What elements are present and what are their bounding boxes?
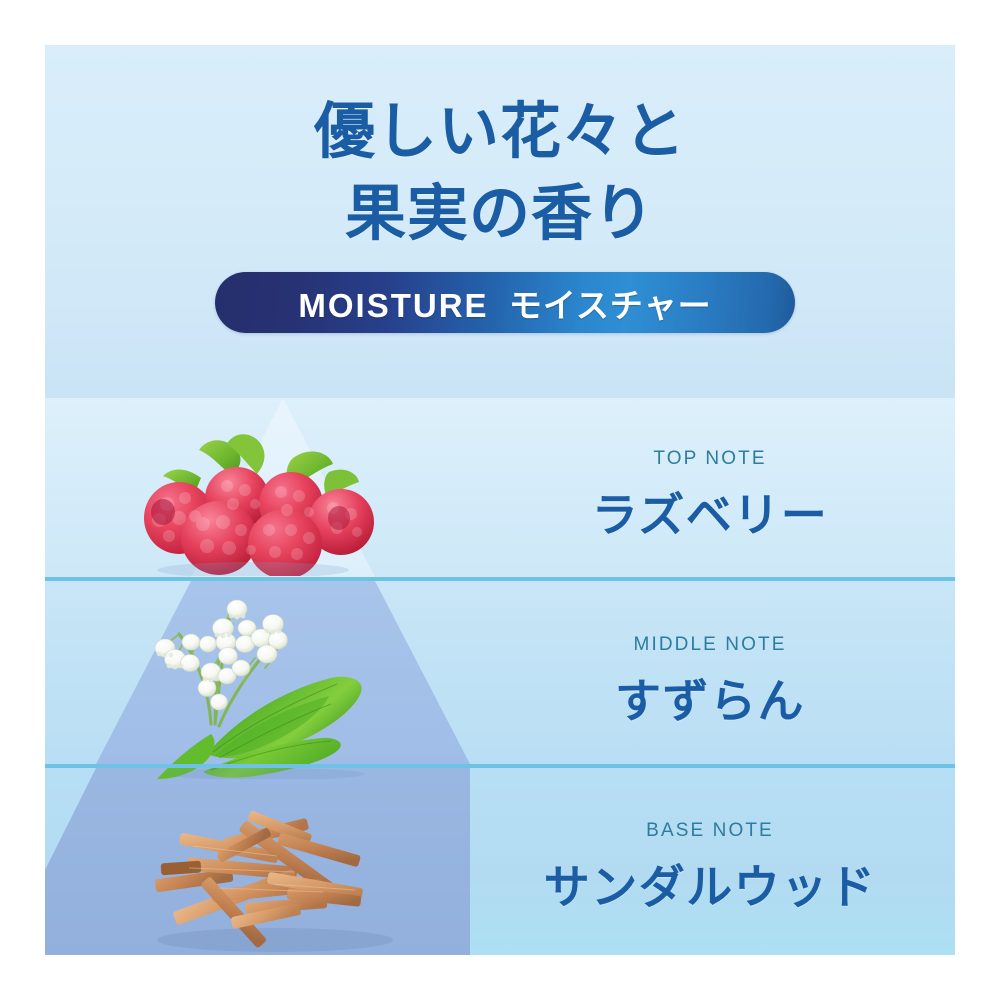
band-divider-2	[45, 764, 955, 768]
content-panel: 優しい花々と 果実の香り MOISTURE モイスチャー	[45, 45, 955, 955]
note-text-middle: MIDDLE NOTE すずらん	[475, 634, 945, 731]
sandalwood-icon	[127, 788, 417, 953]
note-text-top: TOP NOTE ラズベリー	[475, 448, 945, 545]
sandalwood-sticks	[155, 810, 364, 949]
band-divider-1	[45, 577, 955, 581]
note-name-base: サンダルウッド	[475, 851, 945, 917]
note-text-base: BASE NOTE サンダルウッド	[475, 820, 945, 917]
headline-line-1: 優しい花々と	[45, 91, 955, 173]
badge-label-jp: モイスチャー	[489, 287, 712, 324]
note-kicker-top: TOP NOTE	[475, 448, 945, 470]
note-name-top: ラズベリー	[475, 479, 945, 545]
lily-bell-flowers	[155, 600, 288, 710]
lily-of-the-valley-icon	[115, 584, 415, 779]
note-kicker-middle: MIDDLE NOTE	[475, 634, 945, 656]
moisture-badge: MOISTURE モイスチャー	[215, 272, 795, 333]
headline-line-2: 果実の香り	[45, 173, 955, 255]
fragrance-note-infographic: 優しい花々と 果実の香り MOISTURE モイスチャー	[0, 0, 1000, 1000]
header-area: 優しい花々と 果実の香り MOISTURE モイスチャー	[45, 45, 955, 398]
note-name-middle: すずらん	[475, 665, 945, 731]
raspberry-icon	[133, 426, 393, 576]
page-title: 優しい花々と 果実の香り	[45, 91, 955, 254]
note-kicker-base: BASE NOTE	[475, 820, 945, 842]
badge-label-en: MOISTURE	[298, 287, 488, 324]
fragrance-notes-section: TOP NOTE ラズベリー MIDDLE NOTE すずらん BASE NOT…	[45, 398, 955, 955]
moisture-badge-label: MOISTURE モイスチャー	[298, 279, 711, 327]
